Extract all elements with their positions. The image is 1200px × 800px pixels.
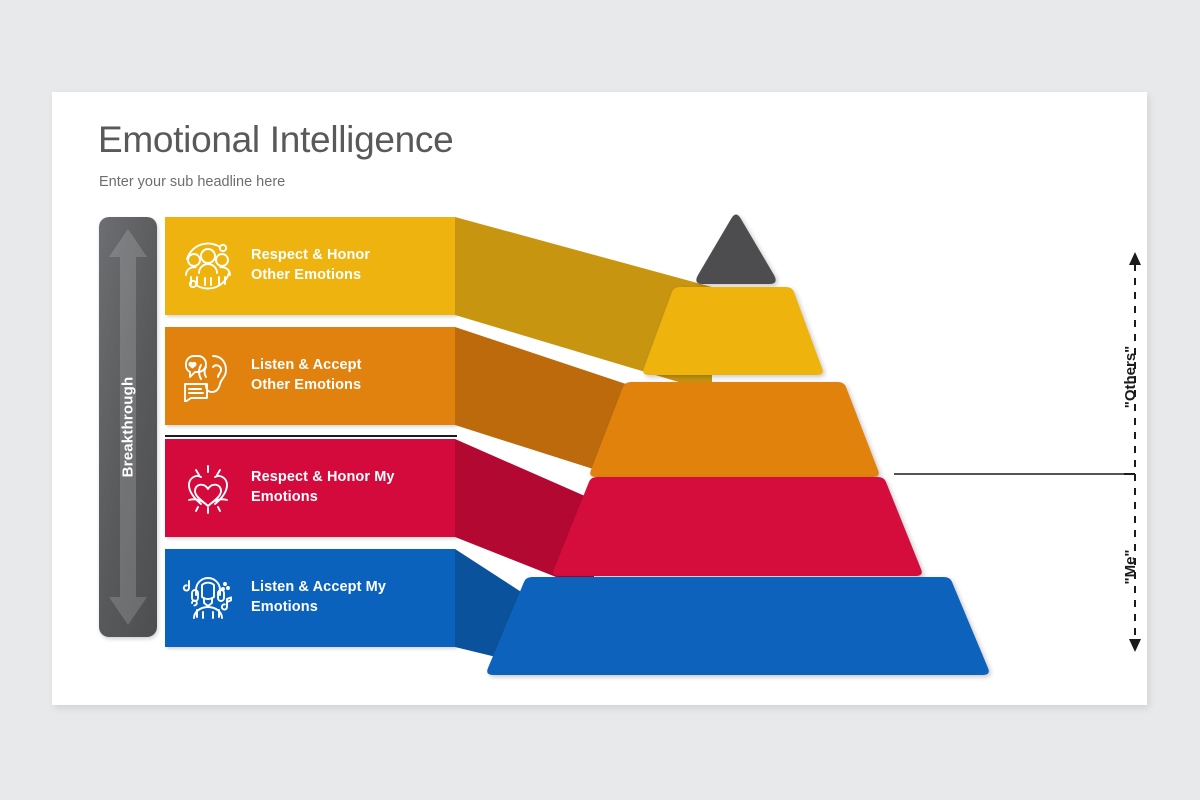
pyramid-level-self-management (553, 477, 922, 576)
pyramid-level-social-awareness (590, 382, 879, 477)
axis-label-others: "Others" (1122, 346, 1139, 409)
arrow-up-icon (1129, 252, 1141, 265)
axis-label-me: "Me" (1122, 549, 1139, 584)
slide-canvas: Emotional Intelligence Enter your sub he… (52, 92, 1147, 705)
arrow-down-icon (1129, 639, 1141, 652)
pyramid-apex (696, 215, 775, 285)
pyramid-level-self-awareness (487, 577, 989, 675)
pyramid-level-empathy (643, 287, 823, 375)
pyramid-diagram: Empathy Social Awareness Self Management… (52, 92, 1147, 705)
me-others-axis: "Others" "Me" (1042, 242, 1147, 662)
